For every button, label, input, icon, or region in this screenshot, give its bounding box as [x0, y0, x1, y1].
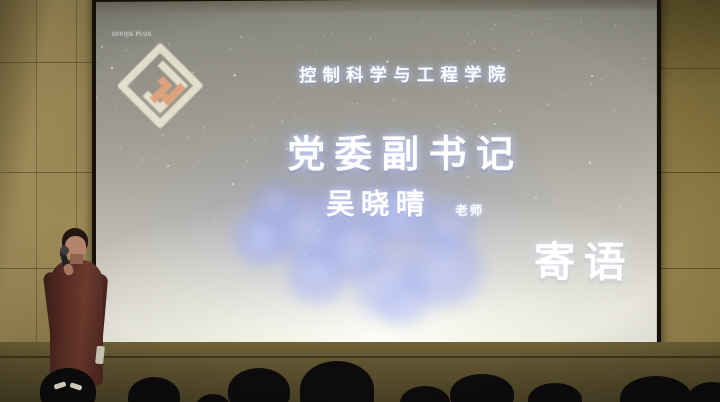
audience-head — [128, 377, 180, 402]
projection-screen: OFFICE PLUS 控制科学与工程学院 党委副书记 吴晓晴 老师 寄语 — [96, 0, 657, 356]
slide-corner-label: 寄语 — [534, 229, 634, 289]
speaker-name-row: 吴晓晴 老师 — [96, 182, 657, 223]
audience-head — [300, 361, 374, 402]
slide-title: 党委副书记 — [96, 123, 657, 178]
audience-row — [0, 338, 720, 402]
lecture-hall-scene: OFFICE PLUS 控制科学与工程学院 党委副书记 吴晓晴 老师 寄语 — [0, 0, 720, 402]
projection-screen-frame: OFFICE PLUS 控制科学与工程学院 党委副书记 吴晓晴 老师 寄语 — [92, 0, 661, 362]
microphone-head-icon — [60, 246, 69, 255]
office-plus-watermark: OFFICE PLUS — [112, 31, 151, 38]
audience-head — [688, 382, 720, 402]
audience-head — [528, 383, 582, 402]
speaker-role: 老师 — [455, 201, 484, 218]
audience-head — [40, 368, 96, 402]
slide-subtitle: 控制科学与工程学院 — [96, 59, 657, 87]
audience-head — [450, 374, 514, 402]
speaker-name: 吴晓晴 — [326, 182, 430, 223]
audience-head — [400, 386, 450, 402]
audience-head — [196, 394, 230, 402]
audience-head — [228, 368, 290, 402]
presenter-neck — [70, 254, 83, 264]
audience-head — [620, 376, 692, 402]
